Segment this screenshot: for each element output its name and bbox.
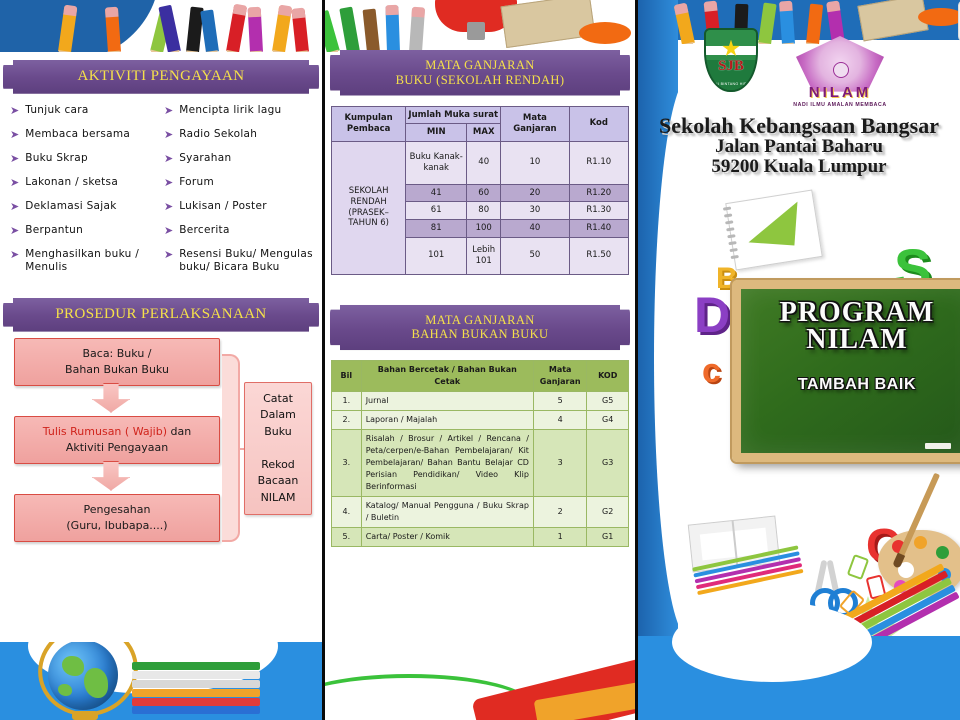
pencil-icon — [363, 9, 380, 52]
table-row: 4. Katalog/ Manual Pengguna / Buku Skrap… — [332, 497, 629, 528]
cell-points: 40 — [501, 220, 569, 238]
down-arrow-icon — [92, 461, 130, 491]
activity-item-label: Lukisan / Poster — [179, 200, 267, 213]
col-code: KOD — [587, 361, 629, 392]
record-note-line1: Catat — [263, 392, 293, 405]
pencil-icon — [758, 2, 777, 44]
cell-points: 10 — [501, 141, 569, 184]
activity-item-label: Syarahan — [179, 152, 231, 165]
arrow-bullet-icon: ➤ — [10, 224, 19, 238]
procedure-flowchart: Baca: Buku / Bahan Bukan Buku Tulis Rumu… — [0, 332, 322, 580]
list-item: ➤Syarahan — [164, 152, 314, 166]
panel-right: SJB ILMU BINTANG HIDUP NILAM NADI ILMU A… — [638, 0, 960, 720]
arrow-bullet-icon: ➤ — [164, 152, 173, 166]
cell-no: 5. — [332, 528, 362, 547]
col-min: MIN — [406, 124, 467, 142]
cell-code: R1.20 — [569, 184, 628, 202]
eraser-icon — [579, 22, 631, 44]
list-item: ➤Membaca bersama — [10, 128, 160, 142]
flow-step-read-line2: Bahan Bukan Buku — [65, 363, 169, 376]
cell-code: G4 — [587, 411, 629, 430]
nonbook-points-banner-line2: BAHAN BUKAN BUKU — [352, 327, 608, 342]
cell-max: 80 — [467, 202, 501, 220]
panel-divider-right — [635, 0, 638, 720]
web-hub-icon — [833, 62, 849, 78]
spiral-binding-icon — [723, 206, 740, 267]
cell-points: 50 — [501, 237, 569, 274]
nilam-logo: NILAM NADI ILMU AMALAN MEMBACA — [790, 36, 890, 114]
flow-step-verify-line2: (Guru, Ibubapa....) — [66, 519, 167, 532]
activity-item-label: Mencipta lirik lagu — [179, 104, 281, 117]
flow-step-read: Baca: Buku / Bahan Bukan Buku — [14, 338, 220, 386]
cell-max: 40 — [467, 141, 501, 184]
cell-min: Buku Kanak-kanak — [406, 141, 467, 184]
activity-item-label: Membaca bersama — [25, 128, 130, 141]
table-row: SEKOLAH RENDAH (PRASEK– TAHUN 6) Buku Ka… — [332, 141, 629, 184]
shield-icon: SJB ILMU BINTANG HIDUP — [704, 28, 758, 92]
arrow-bullet-icon: ➤ — [10, 128, 19, 142]
arrow-bullet-icon: ➤ — [10, 248, 19, 262]
school-city: 59200 Kuala Lumpur — [638, 157, 960, 177]
globe-icon — [48, 642, 118, 710]
list-item: ➤Deklamasi Sajak — [10, 200, 160, 214]
decorative-globe-band-bottom-left — [0, 642, 322, 720]
cell-max: Lebih 101 — [467, 237, 501, 274]
cell-material: Jurnal — [361, 392, 533, 411]
arrow-bullet-icon: ➤ — [164, 176, 173, 190]
flow-bracket — [222, 354, 240, 542]
white-wave-decoration — [672, 602, 872, 682]
col-points: Mata Ganjaran — [501, 106, 569, 141]
flow-step-read-line1: Baca: Buku / — [82, 347, 151, 360]
program-title-line1: PROGRAM — [741, 299, 960, 326]
activity-item-label: Bercerita — [179, 224, 229, 237]
cell-code: G5 — [587, 392, 629, 411]
nonbook-points-banner: MATA GANJARAN BAHAN BUKAN BUKU — [330, 305, 630, 351]
cell-min: 81 — [406, 220, 467, 238]
record-note-line6: NILAM — [261, 491, 296, 504]
procedure-banner: PROSEDUR PERLAKSANAAN — [3, 298, 319, 332]
activity-banner-title: AKTIVITI PENGAYAAN — [25, 68, 297, 86]
record-note-line2: Dalam — [260, 408, 296, 421]
procedure-banner-title: PROSEDUR PERLAKSANAAN — [25, 306, 297, 324]
cell-material: Carta/ Poster / Komik — [361, 528, 533, 547]
flow-step-summary-line2: Aktiviti Pengayaan — [66, 441, 168, 454]
activity-column-left: ➤Tunjuk cara ➤Membaca bersama ➤Buku Skra… — [10, 104, 160, 284]
flow-step-summary: Tulis Rumusan ( Wajib) dan Aktiviti Peng… — [14, 416, 220, 464]
down-arrow-icon — [92, 383, 130, 413]
crest-initials: SJB — [718, 58, 744, 75]
list-item: ➤Tunjuk cara — [10, 104, 160, 118]
activity-item-label: Buku Skrap — [25, 152, 88, 165]
activity-item-label: Tunjuk cara — [25, 104, 88, 117]
decorative-pencil-band-top-mid — [325, 0, 635, 52]
col-max: MAX — [467, 124, 501, 142]
panel-left: AKTIVITI PENGAYAAN ➤Tunjuk cara ➤Membaca… — [0, 0, 322, 720]
col-code: Kod — [569, 106, 628, 141]
school-crest-icon: SJB ILMU BINTANG HIDUP — [704, 28, 758, 92]
list-item: ➤Resensi Buku/ Mengulas buku/ Bicara Buk… — [164, 248, 314, 274]
cell-group-label: SEKOLAH RENDAH (PRASEK– TAHUN 6) — [332, 141, 406, 274]
globe-base-icon — [72, 711, 98, 720]
activity-item-label: Menghasilkan buku / Menulis — [25, 248, 160, 274]
cell-no: 4. — [332, 497, 362, 528]
ruler-icon — [501, 0, 596, 48]
panel-divider-left — [322, 0, 325, 720]
list-item: ➤Lakonan / sketsa — [10, 176, 160, 190]
activity-column-right: ➤Mencipta lirik lagu ➤Radio Sekolah ➤Sya… — [164, 104, 314, 284]
list-item: ➤Forum — [164, 176, 314, 190]
list-item: ➤Menghasilkan buku / Menulis — [10, 248, 160, 274]
paper-clip-icon — [847, 554, 870, 580]
table-head: Bil Bahan Bercetak / Bahan Bukan Cetak M… — [332, 361, 629, 392]
book-points-table: Kumpulan Pembaca Jumlah Muka surat Mata … — [331, 106, 629, 275]
arrow-bullet-icon: ➤ — [10, 200, 19, 214]
eraser-icon — [918, 8, 960, 26]
arrow-bullet-icon: ➤ — [10, 152, 19, 166]
arrow-bullet-icon: ➤ — [164, 248, 173, 262]
cell-code: G2 — [587, 497, 629, 528]
book-points-banner: MATA GANJARAN BUKU (SEKOLAH RENDAH) — [330, 50, 630, 96]
col-no: Bil — [332, 361, 362, 392]
cell-no: 2. — [332, 411, 362, 430]
panel-middle: MATA GANJARAN BUKU (SEKOLAH RENDAH) Kump… — [325, 0, 635, 720]
cell-min: 61 — [406, 202, 467, 220]
cell-code: G3 — [587, 430, 629, 497]
record-note-line5: Bacaan — [258, 474, 299, 487]
school-street: Jalan Pantai Baharu — [638, 137, 960, 157]
flow-step-verify-line1: Pengesahan — [84, 503, 151, 516]
cell-material: Risalah / Brosur / Artikel / Rencana / P… — [361, 430, 533, 497]
books-stack-icon — [132, 658, 260, 714]
table-body: SEKOLAH RENDAH (PRASEK– TAHUN 6) Buku Ka… — [332, 141, 629, 274]
table-header-row: Bil Bahan Bercetak / Bahan Bukan Cetak M… — [332, 361, 629, 392]
arrow-bullet-icon: ➤ — [164, 128, 173, 142]
activity-item-label: Lakonan / sketsa — [25, 176, 118, 189]
col-points: Mata Ganjaran — [533, 361, 586, 392]
book-points-banner-line2: BUKU (SEKOLAH RENDAH) — [352, 73, 608, 88]
cell-code: R1.40 — [569, 220, 628, 238]
book-points-table-wrap: Kumpulan Pembaca Jumlah Muka surat Mata … — [325, 96, 635, 275]
cell-min: 101 — [406, 237, 467, 274]
nilam-tagline: NADI ILMU AMALAN MEMBACA — [790, 102, 890, 108]
program-title-line2: NILAM — [741, 326, 960, 353]
list-item: ➤Bercerita — [164, 224, 314, 238]
list-item: ➤Radio Sekolah — [164, 128, 314, 142]
crest-motto: ILMU BINTANG HIDUP — [706, 82, 756, 86]
blue-blob-decoration — [0, 0, 160, 52]
table-row: 3. Risalah / Brosur / Artikel / Rencana … — [332, 430, 629, 497]
cell-points: 3 — [533, 430, 586, 497]
cell-points: 4 — [533, 411, 586, 430]
table-row: 1. Jurnal 5 G5 — [332, 392, 629, 411]
pencil-icon — [339, 7, 360, 52]
pencil-icon — [272, 6, 292, 52]
list-item: ➤Berpantun — [10, 224, 160, 238]
nonbook-points-table: Bil Bahan Bercetak / Bahan Bukan Cetak M… — [331, 360, 629, 547]
cell-points: 2 — [533, 497, 586, 528]
cell-max: 100 — [467, 220, 501, 238]
cell-no: 3. — [332, 430, 362, 497]
cell-points: 1 — [533, 528, 586, 547]
nonbook-points-banner-line1: MATA GANJARAN — [352, 313, 608, 328]
book-points-banner-line1: MATA GANJARAN — [352, 58, 608, 73]
activity-lists: ➤Tunjuk cara ➤Membaca bersama ➤Buku Skra… — [0, 94, 322, 284]
arrow-bullet-icon: ➤ — [10, 104, 19, 118]
blue-curve-edge — [638, 0, 678, 720]
list-item: ➤Buku Skrap — [10, 152, 160, 166]
nonbook-points-table-wrap: Bil Bahan Bercetak / Bahan Bukan Cetak M… — [325, 350, 635, 547]
activity-item-label: Deklamasi Sajak — [25, 200, 116, 213]
pencil-icon — [409, 8, 425, 52]
decorative-pencil-band-top-left — [0, 0, 322, 52]
arrow-bullet-icon: ➤ — [164, 104, 173, 118]
blackboard: PROGRAM NILAM TAMBAH BAIK — [732, 280, 960, 462]
decorative-band-bottom-mid — [325, 658, 635, 720]
cell-material: Laporan / Majalah — [361, 411, 533, 430]
cell-points: 30 — [501, 202, 569, 220]
activity-item-label: Resensi Buku/ Mengulas buku/ Bicara Buku — [179, 248, 314, 274]
nilam-wordmark: NILAM — [790, 84, 890, 101]
pencil-icon — [674, 4, 695, 44]
activity-item-label: Berpantun — [25, 224, 83, 237]
table-header-row: Kumpulan Pembaca Jumlah Muka surat Mata … — [332, 106, 629, 124]
table-row: 2. Laporan / Majalah 4 G4 — [332, 411, 629, 430]
flow-step-summary-suffix: dan — [167, 425, 191, 438]
pencil-icon — [325, 10, 340, 52]
cell-material: Katalog/ Manual Pengguna / Buku Skrap / … — [361, 497, 533, 528]
cell-max: 60 — [467, 184, 501, 202]
table-head: Kumpulan Pembaca Jumlah Muka surat Mata … — [332, 106, 629, 141]
cell-no: 1. — [332, 392, 362, 411]
col-group: Kumpulan Pembaca — [332, 106, 406, 141]
pencil-icon — [226, 5, 247, 52]
record-note-line3: Buku — [264, 425, 292, 438]
list-item: ➤Mencipta lirik lagu — [164, 104, 314, 118]
cell-points: 20 — [501, 184, 569, 202]
record-note-box: Catat Dalam Buku Rekod Bacaan NILAM — [244, 382, 312, 516]
arrow-bullet-icon: ➤ — [164, 224, 173, 238]
program-subtitle: TAMBAH BAIK — [741, 376, 960, 394]
arrow-bullet-icon: ➤ — [10, 176, 19, 190]
activity-item-label: Forum — [179, 176, 214, 189]
school-name: Sekolah Kebangsaan Bangsar — [638, 114, 960, 137]
table-row: 5. Carta/ Poster / Komik 1 G1 — [332, 528, 629, 547]
pencil-icon — [200, 10, 219, 52]
blue-band-bottom-right — [638, 636, 960, 720]
activity-item-label: Radio Sekolah — [179, 128, 257, 141]
flow-step-verify: Pengesahan (Guru, Ibubapa....) — [14, 494, 220, 542]
arrow-bullet-icon: ➤ — [164, 200, 173, 214]
cell-code: R1.10 — [569, 141, 628, 184]
col-material: Bahan Bercetak / Bahan Bukan Cetak — [361, 361, 533, 392]
pencil-icon — [292, 9, 309, 52]
activity-banner: AKTIVITI PENGAYAAN — [3, 60, 319, 94]
cell-code: G1 — [587, 528, 629, 547]
school-title-block: Sekolah Kebangsaan Bangsar Jalan Pantai … — [638, 114, 960, 178]
letter-d-icon: D — [694, 286, 730, 344]
list-item: ➤Lukisan / Poster — [164, 200, 314, 214]
pencil-icon — [385, 6, 400, 52]
table-body: 1. Jurnal 5 G5 2. Laporan / Majalah 4 G4… — [332, 392, 629, 547]
stapler-base-icon — [467, 22, 485, 40]
flow-step-summary-emphasis: Tulis Rumusan ( Wajib) — [43, 425, 167, 438]
col-pages: Jumlah Muka surat — [406, 106, 501, 124]
chalk-icon — [925, 443, 951, 449]
cell-code: R1.30 — [569, 202, 628, 220]
pencil-icon — [248, 8, 263, 52]
cell-code: R1.50 — [569, 237, 628, 274]
brochure-page: AKTIVITI PENGAYAAN ➤Tunjuk cara ➤Membaca… — [0, 0, 960, 720]
letter-c-icon: c — [702, 352, 721, 391]
record-note-line4: Rekod — [261, 458, 295, 471]
cell-points: 5 — [533, 392, 586, 411]
set-square-icon — [749, 198, 798, 245]
cell-min: 41 — [406, 184, 467, 202]
